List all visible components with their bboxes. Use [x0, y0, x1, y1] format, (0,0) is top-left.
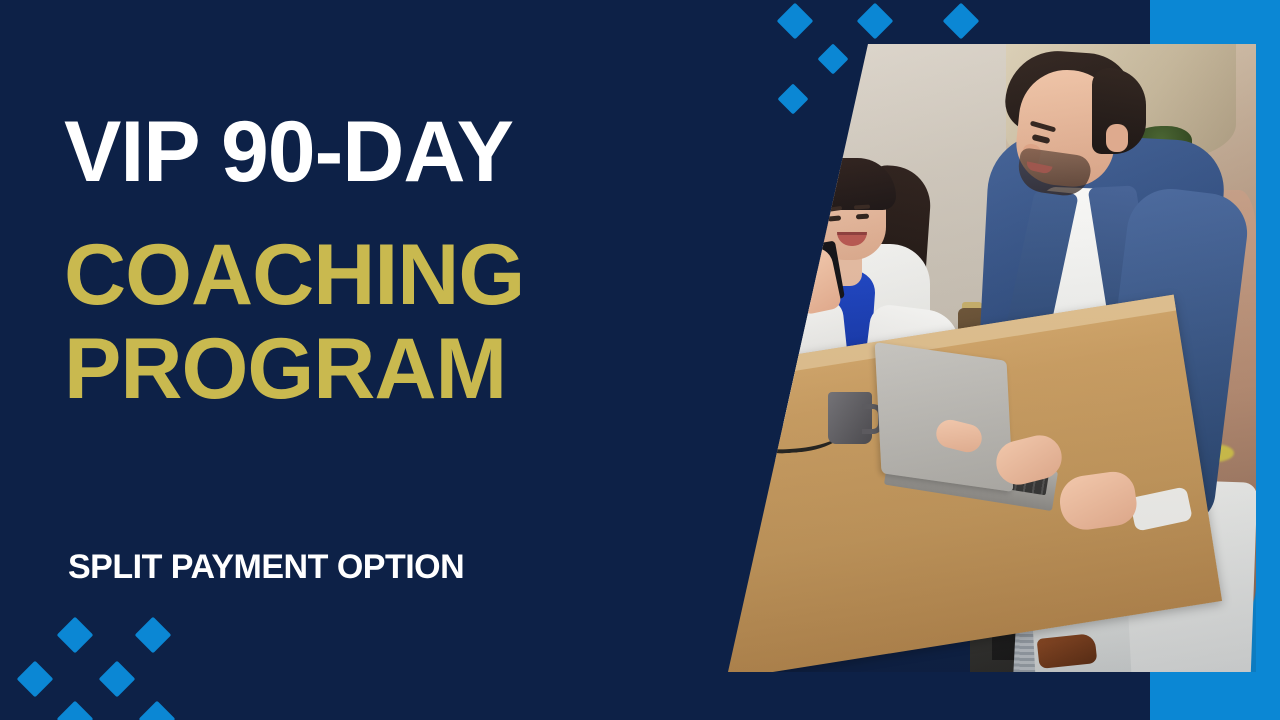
poster-canvas: VIP 90-DAY COACHING PROGRAM SPLIT PAYMEN…	[0, 0, 1280, 720]
diamond-shape	[135, 617, 172, 654]
diamond-shape	[99, 661, 136, 698]
photo-scene	[700, 40, 1256, 676]
diamond-shape	[777, 83, 808, 114]
headline-line-3: PROGRAM	[64, 326, 684, 414]
diamond-shape	[57, 701, 94, 720]
subtitle-text: SPLIT PAYMENT OPTION	[68, 548, 464, 587]
diamond-shape	[943, 3, 980, 40]
man-shoe	[1037, 633, 1098, 669]
woman-eye	[856, 214, 869, 220]
man-ear	[1106, 124, 1128, 152]
headline-block: VIP 90-DAY COACHING PROGRAM	[64, 110, 684, 414]
scene-laptop-lid	[875, 342, 1014, 492]
diamond-shape	[17, 661, 54, 698]
scene-wall-outlet	[714, 322, 740, 356]
diamond-shape	[57, 617, 94, 654]
hero-photo	[700, 40, 1256, 676]
diamond-shape	[777, 3, 814, 40]
headline-line-2: COACHING	[64, 232, 684, 320]
scene-mug	[828, 392, 872, 444]
diamond-shape	[817, 43, 848, 74]
headline-line-1: VIP 90-DAY	[64, 110, 684, 194]
diamond-shape	[857, 3, 894, 40]
diamond-shape	[139, 701, 176, 720]
